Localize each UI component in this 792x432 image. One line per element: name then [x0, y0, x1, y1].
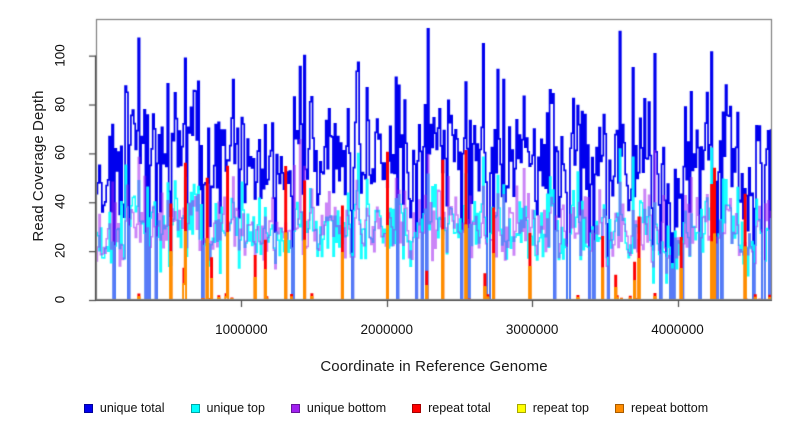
legend-label: repeat total [428, 401, 491, 415]
legend-item: repeat bottom [615, 401, 708, 415]
y-tick-label: 40 [53, 180, 68, 224]
legend-swatch-icon [291, 404, 300, 413]
y-tick-label: 20 [53, 229, 68, 273]
legend-label: repeat bottom [631, 401, 708, 415]
y-tick-label: 100 [53, 33, 68, 77]
legend-label: repeat top [533, 401, 589, 415]
y-tick-label: 60 [53, 131, 68, 175]
legend-item: repeat total [412, 401, 491, 415]
y-axis-title: Read Coverage Depth [30, 16, 47, 316]
legend-label: unique top [207, 401, 265, 415]
legend-item: unique bottom [291, 401, 386, 415]
legend-item: repeat top [517, 401, 589, 415]
legend-item: unique total [84, 401, 165, 415]
coverage-depth-plot: Read Coverage Depth Coordinate in Refere… [0, 0, 792, 432]
y-tick-label: 80 [53, 82, 68, 126]
x-tick-label: 2000000 [327, 322, 447, 337]
x-axis-title: Coordinate in Reference Genome [96, 358, 772, 375]
y-tick-label: 0 [53, 278, 68, 322]
chart-legend: unique totalunique topunique bottomrepea… [0, 398, 792, 418]
x-tick-label: 3000000 [472, 322, 592, 337]
legend-swatch-icon [615, 404, 624, 413]
legend-label: unique total [100, 401, 165, 415]
x-tick-label: 4000000 [618, 322, 738, 337]
x-tick-label: 1000000 [181, 322, 301, 337]
legend-swatch-icon [84, 404, 93, 413]
legend-swatch-icon [412, 404, 421, 413]
legend-label: unique bottom [307, 401, 386, 415]
legend-swatch-icon [517, 404, 526, 413]
legend-item: unique top [191, 401, 265, 415]
legend-swatch-icon [191, 404, 200, 413]
